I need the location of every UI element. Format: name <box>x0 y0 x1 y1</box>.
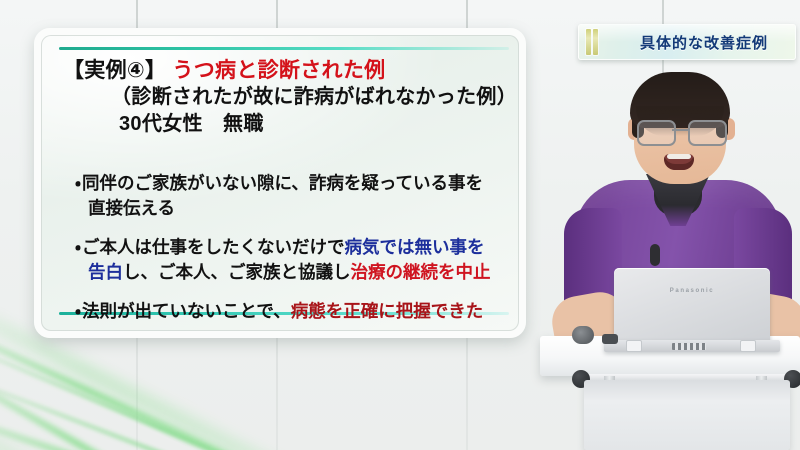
bullet-text-segment: 法則が出ていないことで、 <box>82 301 291 321</box>
case-subtitle: （診断されたが故に詐病がばれなかった例） <box>63 84 507 110</box>
bullet-text-emphasis-blue: 告白 <box>88 262 123 282</box>
bookmark-bars-icon <box>586 29 600 55</box>
bullet-line-2: 直接伝える <box>75 196 503 221</box>
laptop-lid: Panasonic <box>614 268 770 344</box>
bullet-marker: ・ <box>75 173 81 193</box>
lens-left <box>637 120 676 146</box>
bullet-line-2: 告白し、ご本人、ご家族と協議し治療の継続を中止 <box>75 260 503 285</box>
bullet-text-emphasis-blue: 病気では無い事を <box>344 237 484 257</box>
bullet-marker: ・ <box>75 301 81 321</box>
slide-bullet-list: ・同伴のご家族がいない隙に、詐病を疑っている事を 直接伝える ・ご本人は仕事をし… <box>75 171 503 331</box>
bullet-text-emphasis-red: 病態を正確に把握できた <box>291 301 484 321</box>
laptop: Panasonic <box>614 268 770 354</box>
slide-top-rule <box>59 47 509 50</box>
bullet-text-emphasis-red: 治療の継続を中止 <box>351 262 491 282</box>
list-item: ・ご本人は仕事をしたくないだけで病気では無い事を 告白し、ご本人、ご家族と協議し… <box>75 235 503 285</box>
laptop-brand-label: Panasonic <box>614 288 770 294</box>
clip-microphone-icon <box>650 244 660 266</box>
presentation-slide: 【実例④】 うつ病と診断された例 （診断されたが故に詐病がばれなかった例） 30… <box>34 28 526 338</box>
banner-title: 具体的な改善症例 <box>619 25 789 59</box>
bullet-text-segment: 同伴のご家族がいない隙に、詐病を疑っている事を <box>82 173 483 193</box>
usb-dongle <box>602 334 618 344</box>
laptop-hinge-left <box>626 340 642 352</box>
lens-right <box>688 120 727 146</box>
patient-info: 30代女性 無職 <box>63 110 507 138</box>
section-banner: 具体的な改善症例 <box>578 24 796 60</box>
case-headline: うつ病と診断された例 <box>172 59 385 82</box>
bullet-text-segment: し、ご本人、ご家族と協議し <box>123 262 351 282</box>
case-label: 【実例④】 <box>63 59 166 82</box>
laptop-hinge-right <box>740 340 756 352</box>
laptop-ports <box>672 343 706 350</box>
glasses-bridge <box>672 129 688 131</box>
list-item: ・同伴のご家族がいない隙に、詐病を疑っている事を 直接伝える <box>75 171 503 221</box>
slide-surface: 【実例④】 うつ病と診断された例 （診断されたが故に詐病がばれなかった例） 30… <box>41 35 519 331</box>
glasses-icon <box>636 120 724 142</box>
slide-title-block: 【実例④】 うつ病と診断された例 （診断されたが故に詐病がばれなかった例） 30… <box>63 57 507 138</box>
list-item: ・法則が出ていないことで、病態を正確に把握できた <box>75 299 503 324</box>
bullet-text-segment: ご本人は仕事をしたくないだけで <box>82 237 345 257</box>
video-frame: 【実例④】 うつ病と診断された例 （診断されたが故に詐病がばれなかった例） 30… <box>0 0 800 450</box>
bullet-marker: ・ <box>75 237 81 257</box>
slide-title-line: 【実例④】 うつ病と診断された例 <box>63 57 507 84</box>
mouse-device <box>572 326 594 344</box>
mouth <box>664 154 694 170</box>
podium-lower-shelf <box>584 380 790 450</box>
bullet-text-segment: 直接伝える <box>88 198 175 218</box>
